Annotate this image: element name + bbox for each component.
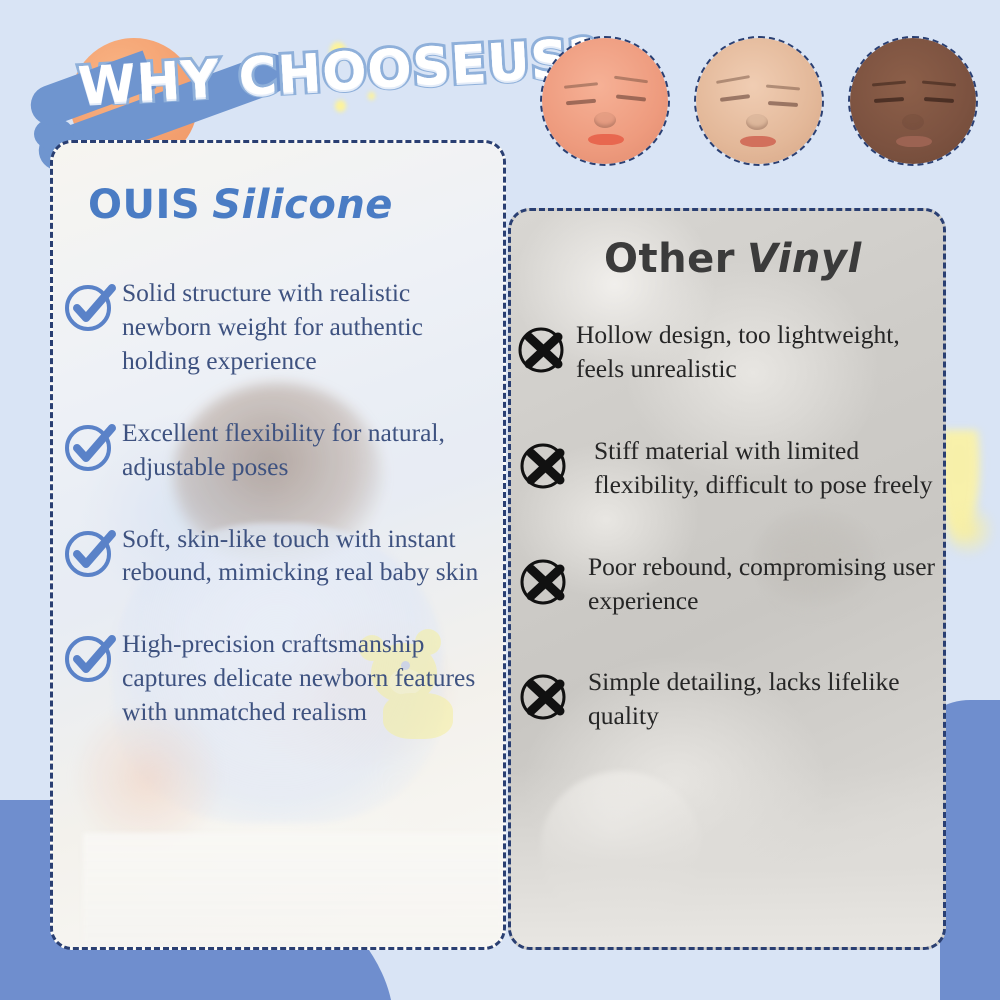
infographic-canvas: WHY CHOOSEUS? WHY CHOOSEUS? bbox=[0, 0, 1000, 1000]
list-item-text: Stiff material with limited flexibility,… bbox=[572, 434, 946, 502]
list-item-text: Hollow design, too lightweight, feels un… bbox=[570, 318, 946, 386]
list-item-text: Excellent flexibility for natural, adjus… bbox=[118, 416, 502, 484]
cross-circle-icon bbox=[516, 436, 572, 492]
baby-face-thumbnail-medium[interactable] bbox=[694, 36, 824, 166]
list-item-text: Poor rebound, compromising user experien… bbox=[572, 550, 946, 618]
list-item: Solid structure with realistic newborn w… bbox=[62, 276, 502, 378]
list-item-text: Soft, skin-like touch with instant rebou… bbox=[118, 522, 502, 590]
vinyl-photo-surface bbox=[511, 767, 943, 947]
list-item: Simple detailing, lacks lifelike quality bbox=[516, 665, 946, 733]
left-panel-heading: OUISSilicone bbox=[88, 182, 393, 228]
nose-icon bbox=[594, 112, 616, 128]
cross-circle-icon bbox=[516, 667, 572, 723]
competitor-label: Other bbox=[604, 236, 735, 282]
list-item: Hollow design, too lightweight, feels un… bbox=[514, 318, 946, 386]
competitor-material: Vinyl bbox=[747, 236, 862, 282]
check-circle-icon bbox=[62, 418, 118, 474]
mouth-icon bbox=[588, 134, 624, 145]
silicone-doll-blanket bbox=[83, 833, 503, 950]
baby-face-thumbnail-row bbox=[540, 36, 978, 166]
baby-face-illustration bbox=[542, 38, 668, 164]
baby-face-thumbnail-dark[interactable] bbox=[848, 36, 978, 166]
list-item-text: Solid structure with realistic newborn w… bbox=[118, 276, 502, 378]
brand-name: OUIS bbox=[88, 182, 200, 228]
mouth-icon bbox=[740, 136, 776, 147]
list-item: Poor rebound, compromising user experien… bbox=[516, 550, 946, 618]
vinyl-drawback-list: Hollow design, too lightweight, feels un… bbox=[516, 318, 946, 781]
nose-icon bbox=[902, 114, 924, 130]
check-circle-icon bbox=[62, 278, 118, 334]
check-circle-icon bbox=[62, 524, 118, 580]
baby-face-thumbnail-light[interactable] bbox=[540, 36, 670, 166]
mouth-icon bbox=[896, 136, 932, 147]
list-item-text: Simple detailing, lacks lifelike quality bbox=[572, 665, 946, 733]
material-name: Silicone bbox=[212, 182, 393, 228]
list-item: Excellent flexibility for natural, adjus… bbox=[62, 416, 502, 484]
skin-layer bbox=[542, 38, 668, 164]
right-panel-heading: OtherVinyl bbox=[604, 236, 862, 282]
yellow-blob-secondary-icon bbox=[942, 500, 994, 560]
silicone-benefit-list: Solid structure with realistic newborn w… bbox=[62, 276, 502, 767]
list-item: Soft, skin-like touch with instant rebou… bbox=[62, 522, 502, 590]
cross-circle-icon bbox=[514, 320, 570, 376]
baby-face-illustration bbox=[850, 38, 976, 164]
nose-icon bbox=[746, 114, 768, 130]
baby-face-illustration bbox=[696, 38, 822, 164]
list-item: Stiff material with limited flexibility,… bbox=[516, 434, 946, 502]
cross-circle-icon bbox=[516, 552, 572, 608]
list-item: High-precision craftsmanship captures de… bbox=[62, 627, 502, 729]
list-item-text: High-precision craftsmanship captures de… bbox=[118, 627, 502, 729]
check-circle-icon bbox=[62, 629, 118, 685]
